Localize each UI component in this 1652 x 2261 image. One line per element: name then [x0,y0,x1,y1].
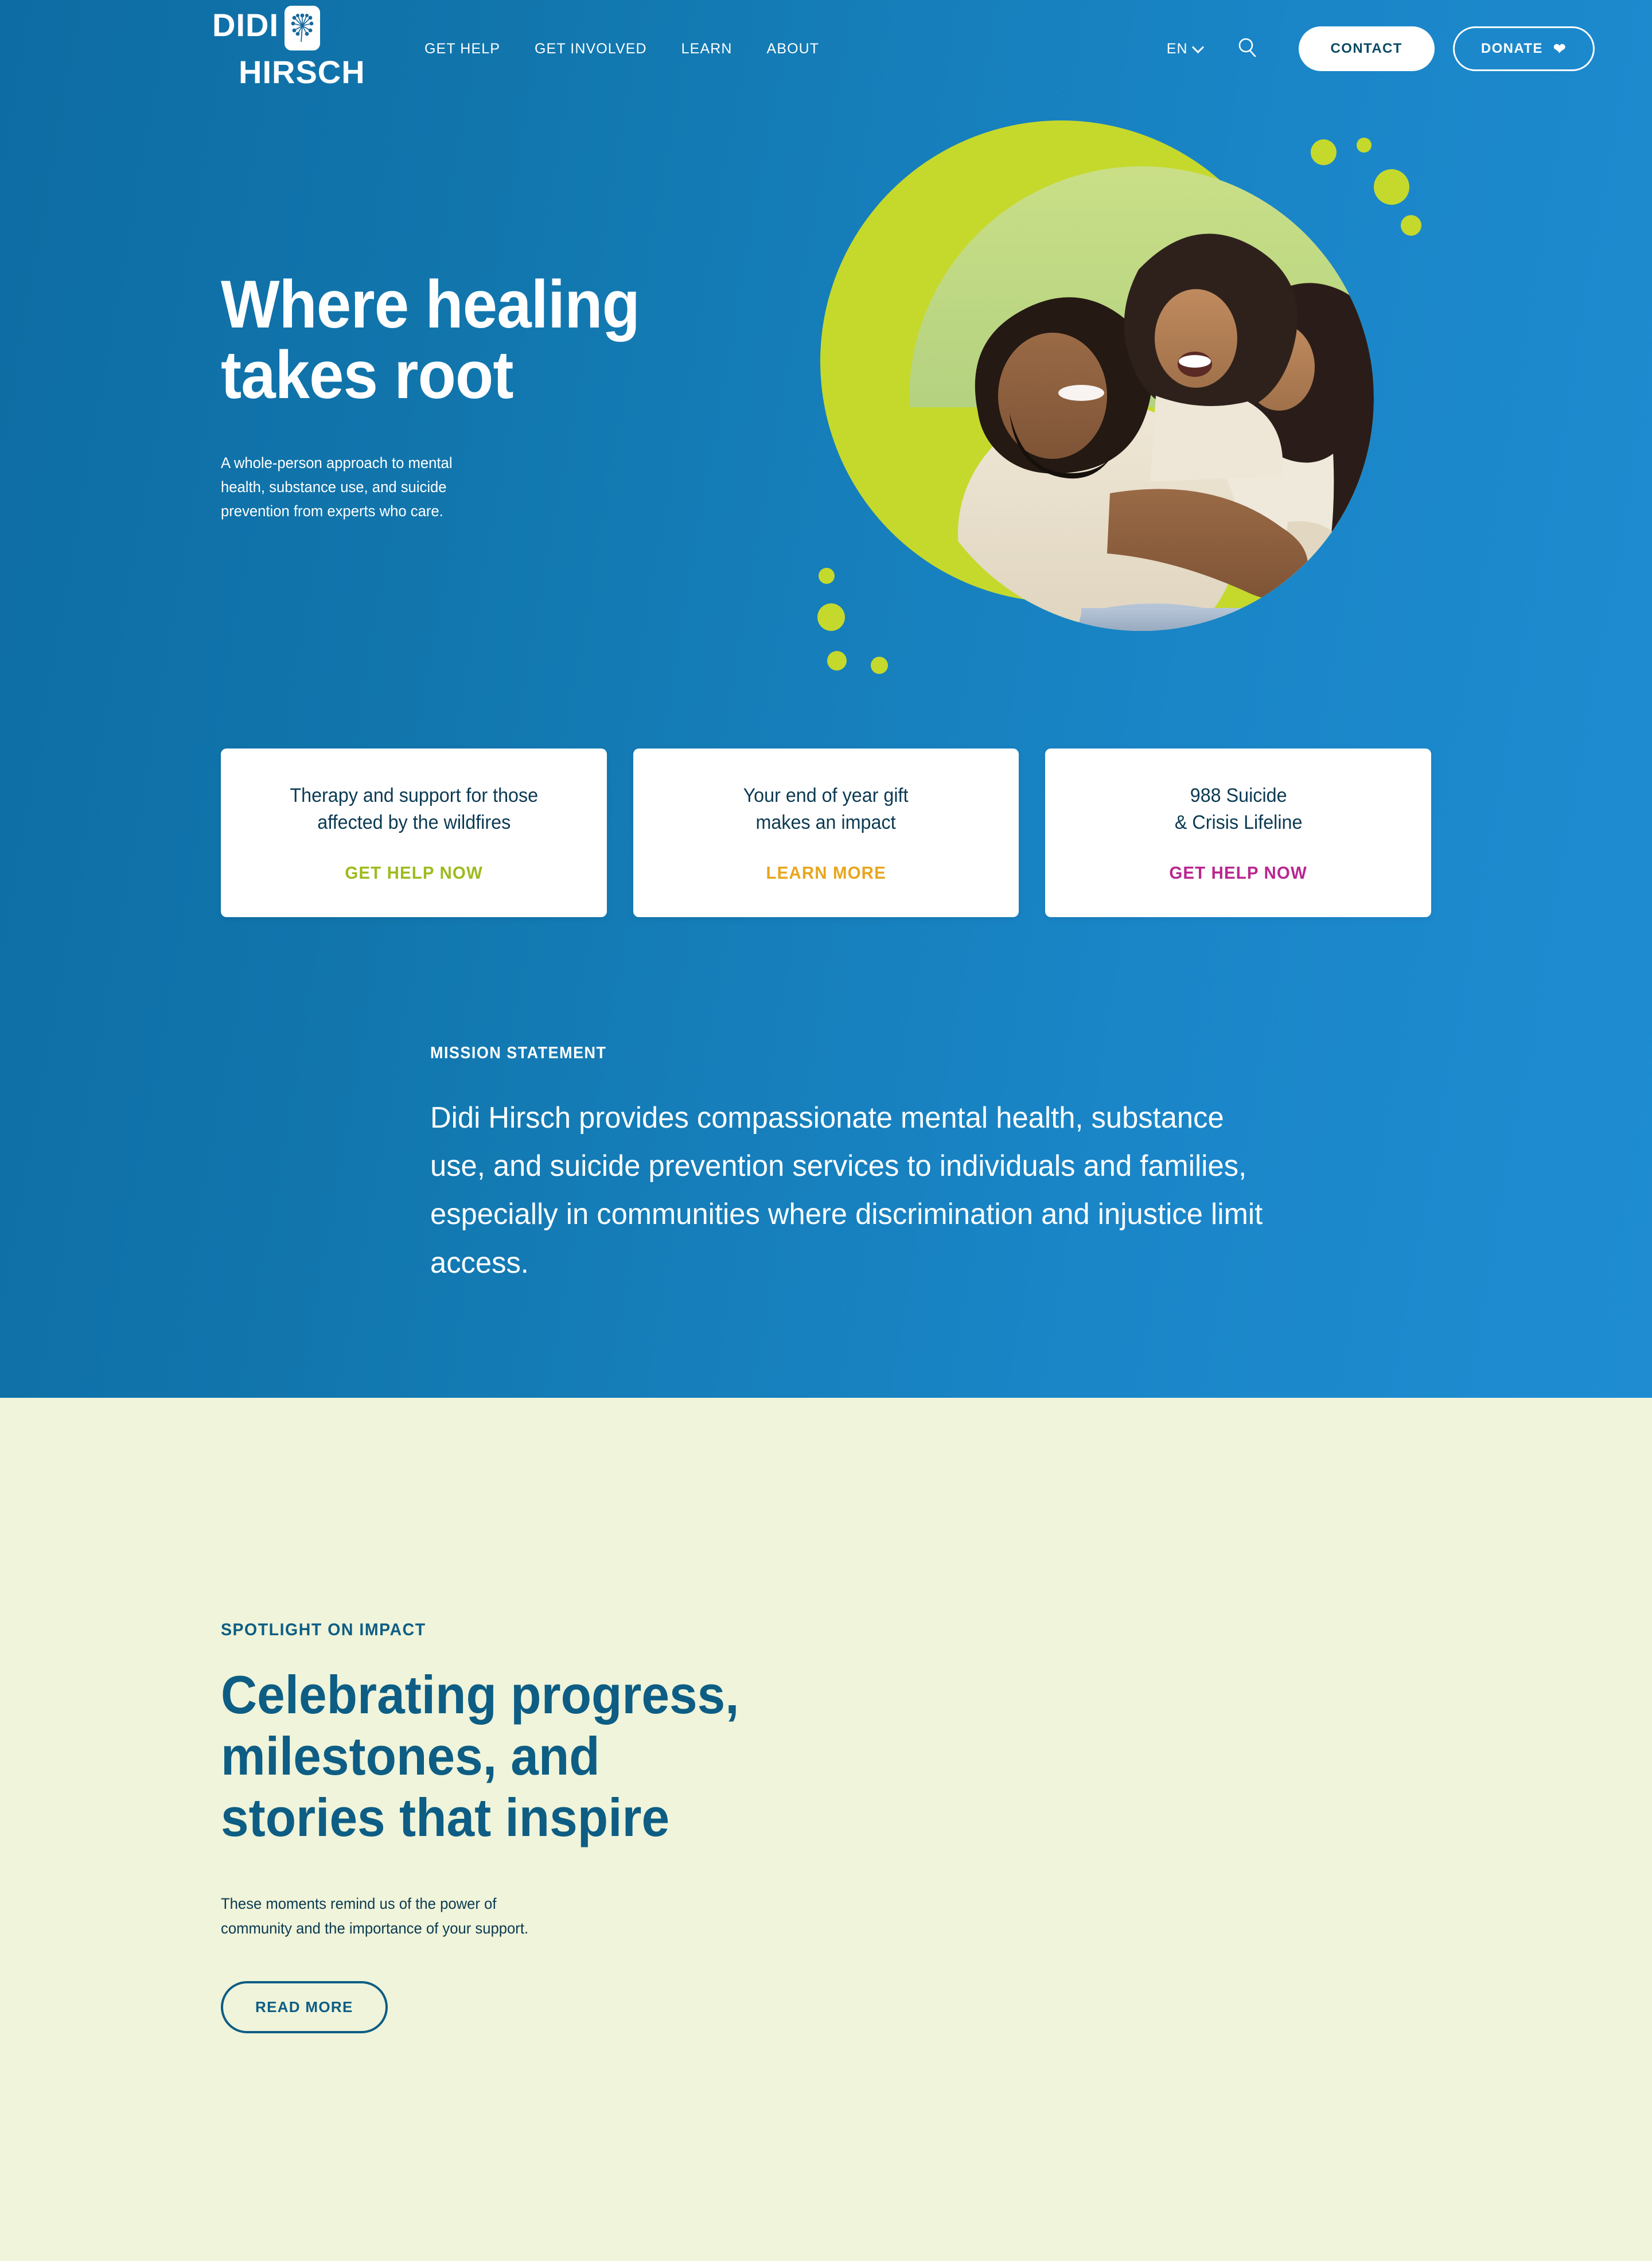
promo-card-title-line1: 988 Suicide [1190,785,1287,806]
spotlight-eyebrow: SPOTLIGHT ON IMPACT [221,1620,766,1640]
promo-card[interactable]: 988 Suicide & Crisis Lifeline GET HELP N… [1045,749,1431,917]
page-title: Where healing takes root [221,270,696,410]
promo-card-title-line2: & Crisis Lifeline [1174,812,1302,833]
dandelion-icon [285,6,320,50]
hero-heading-line2: takes root [221,337,513,413]
promo-cards: Therapy and support for those affected b… [221,749,1431,917]
chevron-down-icon [1191,41,1203,53]
promo-card-cta[interactable]: GET HELP NOW [1169,863,1307,883]
promo-card-title-line1: Therapy and support for those [290,785,538,806]
nav-item-about[interactable]: ABOUT [767,41,820,57]
promo-card-title: 988 Suicide & Crisis Lifeline [1174,782,1302,836]
nav-item-get-involved[interactable]: GET INVOLVED [535,41,647,57]
spotlight-heading-line3: stories that inspire [221,1787,669,1847]
hero-copy: Where healing takes root A whole-person … [221,270,737,524]
promo-card[interactable]: Your end of year gift makes an impact LE… [633,749,1019,917]
hero-section: DIDI [0,0,1652,1398]
language-label: EN [1167,41,1188,57]
promo-card-title-line1: Your end of year gift [743,785,909,806]
promo-card-cta[interactable]: GET HELP NOW [345,863,483,883]
promo-card-title-line2: makes an impact [756,812,896,833]
spotlight-section: YOU MATTER [0,1398,1652,2261]
mission-statement-block: MISSION STATEMENT Didi Hirsch provides c… [430,1044,1302,1287]
site-logo[interactable]: DIDI [212,9,384,88]
promo-card[interactable]: Therapy and support for those affected b… [221,749,607,917]
nav-item-get-help[interactable]: GET HELP [424,41,500,57]
mission-body: Didi Hirsch provides compassionate menta… [430,1094,1280,1287]
hero-family-photo [909,166,1374,631]
contact-button[interactable]: CONTACT [1299,26,1435,71]
spotlight-heading-line2: milestones, and [221,1726,600,1786]
nav-item-learn[interactable]: LEARN [681,41,733,57]
site-header: DIDI [0,0,1652,98]
promo-card-title: Your end of year gift makes an impact [743,782,909,836]
donate-button[interactable]: DONATE ❤ [1453,26,1595,71]
mission-eyebrow: MISSION STATEMENT [430,1044,1241,1063]
language-selector[interactable]: EN [1167,41,1202,57]
spotlight-heading-line1: Celebrating progress, [221,1664,739,1725]
spotlight-copy: SPOTLIGHT ON IMPACT Celebrating progress… [221,1620,794,2033]
hero-subtext: A whole-person approach to mental health… [221,451,493,524]
promo-card-cta[interactable]: LEARN MORE [766,863,886,883]
spotlight-copy-wrap: SPOTLIGHT ON IMPACT Celebrating progress… [0,1398,1652,2261]
logo-text-hirsch: HIRSCH [239,56,365,88]
spotlight-subtext: These moments remind us of the power of … [221,1892,548,1940]
header-actions: EN CONTACT DONATE ❤ [1167,26,1595,71]
search-icon[interactable] [1237,37,1259,61]
logo-text-didi: DIDI [212,9,279,41]
heart-icon: ❤ [1553,41,1567,56]
promo-card-title: Therapy and support for those affected b… [290,782,538,836]
hero-heading-line1: Where healing [221,267,640,342]
promo-card-title-line2: affected by the wildfires [317,812,511,833]
hero-artwork [769,109,1457,763]
read-more-button[interactable]: READ MORE [221,1981,388,2033]
spotlight-heading: Celebrating progress, milestones, and st… [221,1664,754,1848]
donate-label: DONATE [1481,41,1543,57]
main-navigation: GET HELP GET INVOLVED LEARN ABOUT [424,41,819,57]
